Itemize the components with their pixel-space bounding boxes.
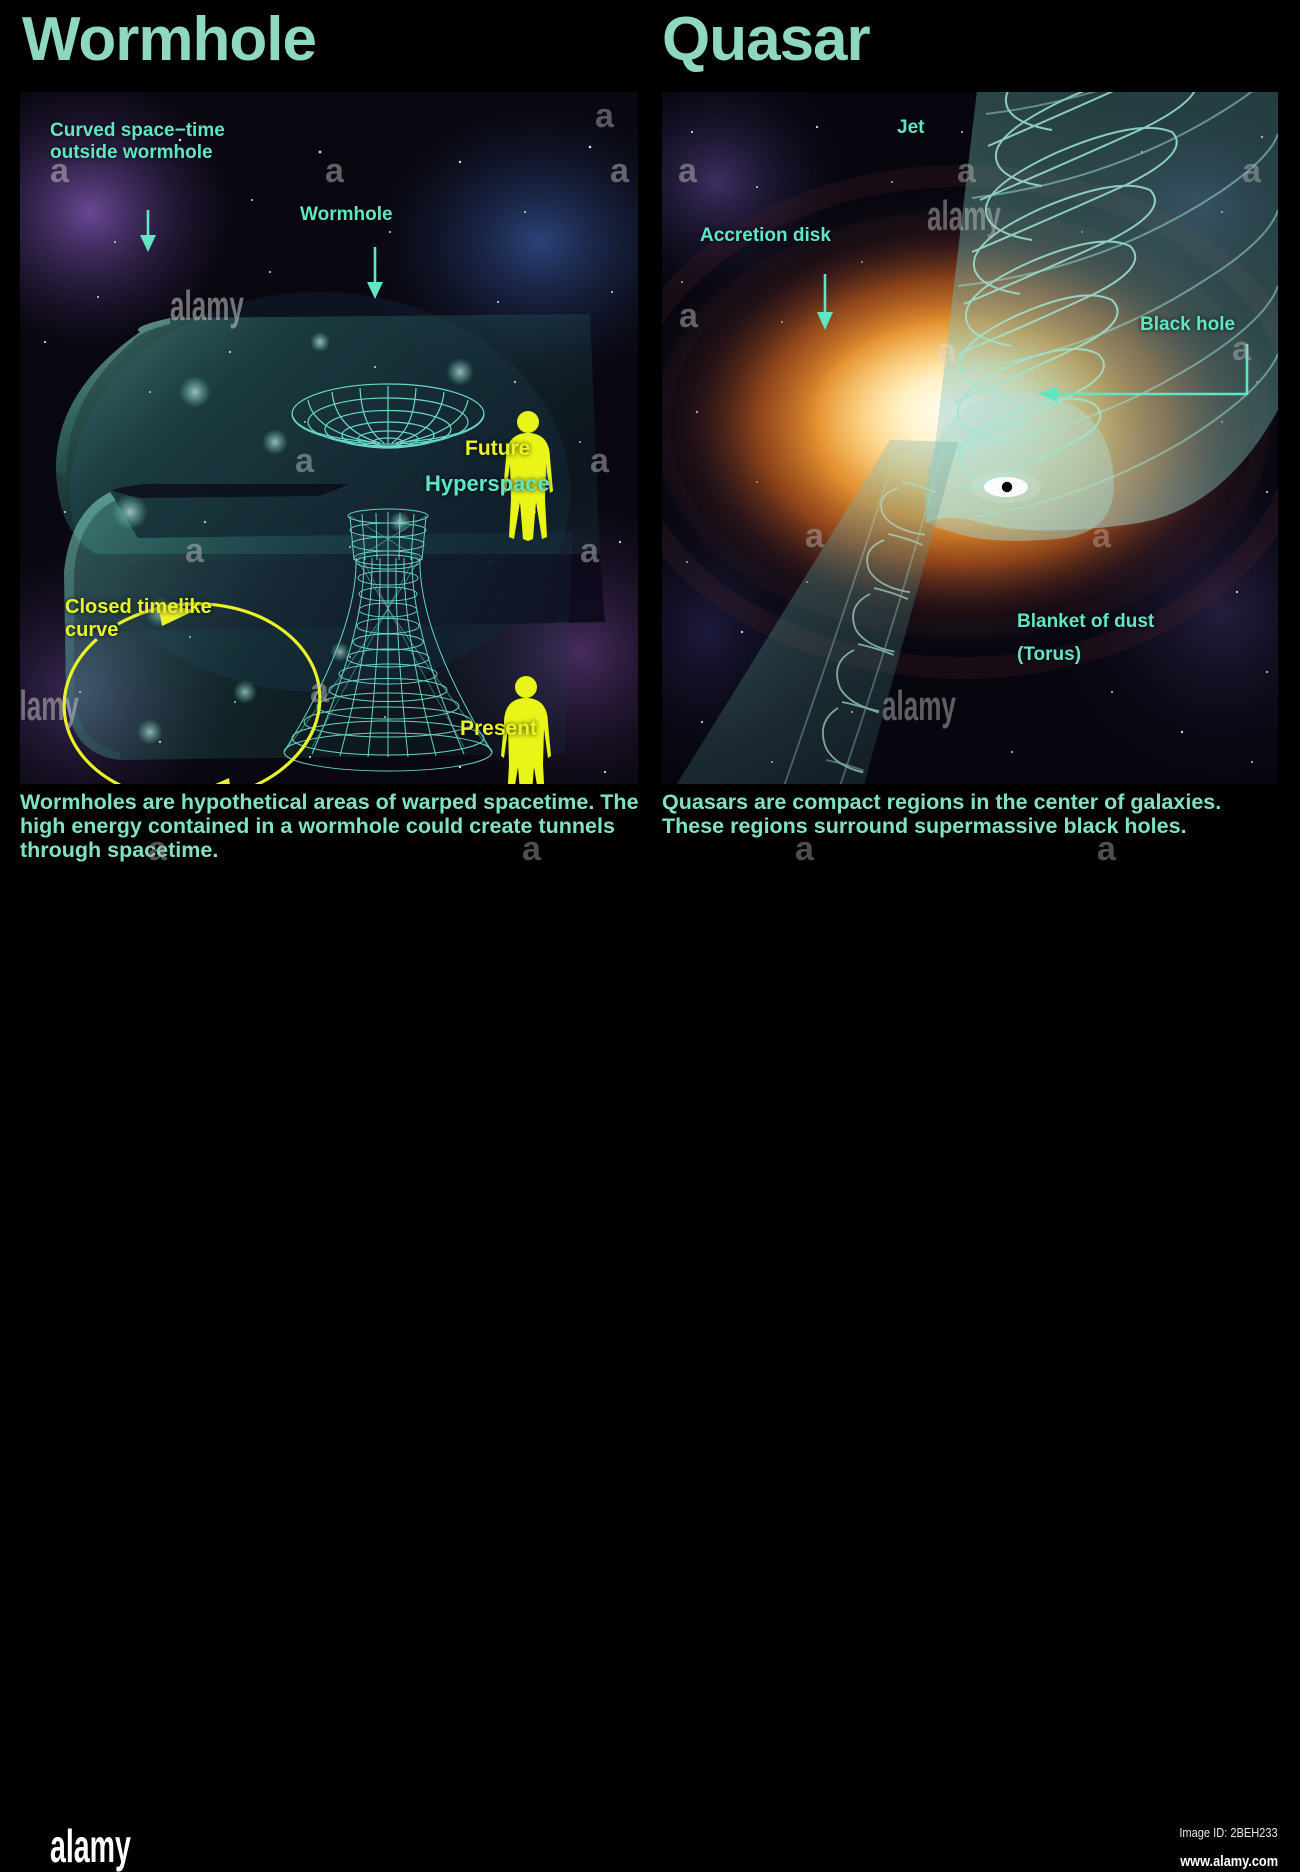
watermark-letter: a: [1242, 152, 1261, 191]
wormhole-illustration-panel: Curved space−time outside wormhole Wormh…: [20, 92, 638, 784]
present-label: Present: [460, 717, 537, 740]
watermark-letter: a: [185, 532, 204, 571]
watermark-word: alamy: [170, 282, 244, 330]
alamy-url-text: www.alamy.com: [1180, 1853, 1278, 1870]
blanket-of-dust-label: Blanket of dust (Torus): [1017, 605, 1154, 671]
watermark-letter: a: [295, 442, 314, 481]
watermark-letter: a: [590, 442, 609, 481]
watermark-letter: a: [580, 532, 599, 571]
watermark-letter: a: [1232, 330, 1251, 369]
watermark-letter: a: [148, 830, 167, 869]
wormhole-svg: [20, 92, 638, 784]
sheet-tuck: [112, 484, 350, 498]
accretion-disk-label: Accretion disk: [700, 225, 831, 247]
watermark-letter: a: [679, 297, 698, 336]
watermark-letter: a: [610, 152, 629, 191]
watermark-letter: a: [325, 152, 344, 191]
quasar-illustration-panel: Jet Accretion disk Black hole Blanket of…: [662, 92, 1278, 784]
watermark-letter: a: [50, 152, 69, 191]
future-label: Future: [465, 437, 530, 460]
watermark-letter: a: [522, 830, 541, 869]
watermark-letter: a: [1092, 517, 1111, 556]
watermark-letter: a: [678, 152, 697, 191]
black-hole: [971, 471, 1041, 503]
watermark-word: alamy: [20, 682, 79, 730]
black-hole-label: Black hole: [1140, 314, 1235, 336]
closed-timelike-curve-label: Closed timelike curve: [65, 596, 212, 642]
watermark-word: alamy: [882, 682, 956, 730]
poster-canvas: Wormhole Quasar: [0, 0, 1300, 999]
wormhole-caption: Wormholes are hypothetical areas of warp…: [20, 790, 645, 862]
watermark-letter: a: [795, 830, 814, 869]
watermark-letter: a: [595, 97, 614, 136]
jet-label: Jet: [897, 117, 924, 139]
curved-spacetime-label: Curved space−time outside wormhole: [50, 120, 225, 164]
quasar-caption: Quasars are compact regions in the cente…: [662, 790, 1282, 838]
image-id-text: Image ID: 2BEH233: [1180, 1825, 1278, 1840]
alamy-footer-bar: alamy Image ID: 2BEH233 www.alamy.com: [0, 895, 1300, 999]
watermark-letter: a: [957, 152, 976, 191]
watermark-letter: a: [805, 517, 824, 556]
page-title-quasar: Quasar: [662, 9, 870, 71]
watermark-letter: a: [937, 332, 956, 371]
watermark-letter: a: [1097, 830, 1116, 869]
black-hole-core: [1002, 482, 1012, 492]
hyperspace-label: Hyperspace: [425, 473, 550, 495]
page-title-wormhole: Wormhole: [22, 9, 316, 71]
watermark-word: alamy: [927, 192, 1001, 240]
alamy-logo: alamy: [50, 1823, 131, 1869]
wormhole-label: Wormhole: [300, 204, 393, 226]
watermark-letter: a: [310, 672, 329, 711]
